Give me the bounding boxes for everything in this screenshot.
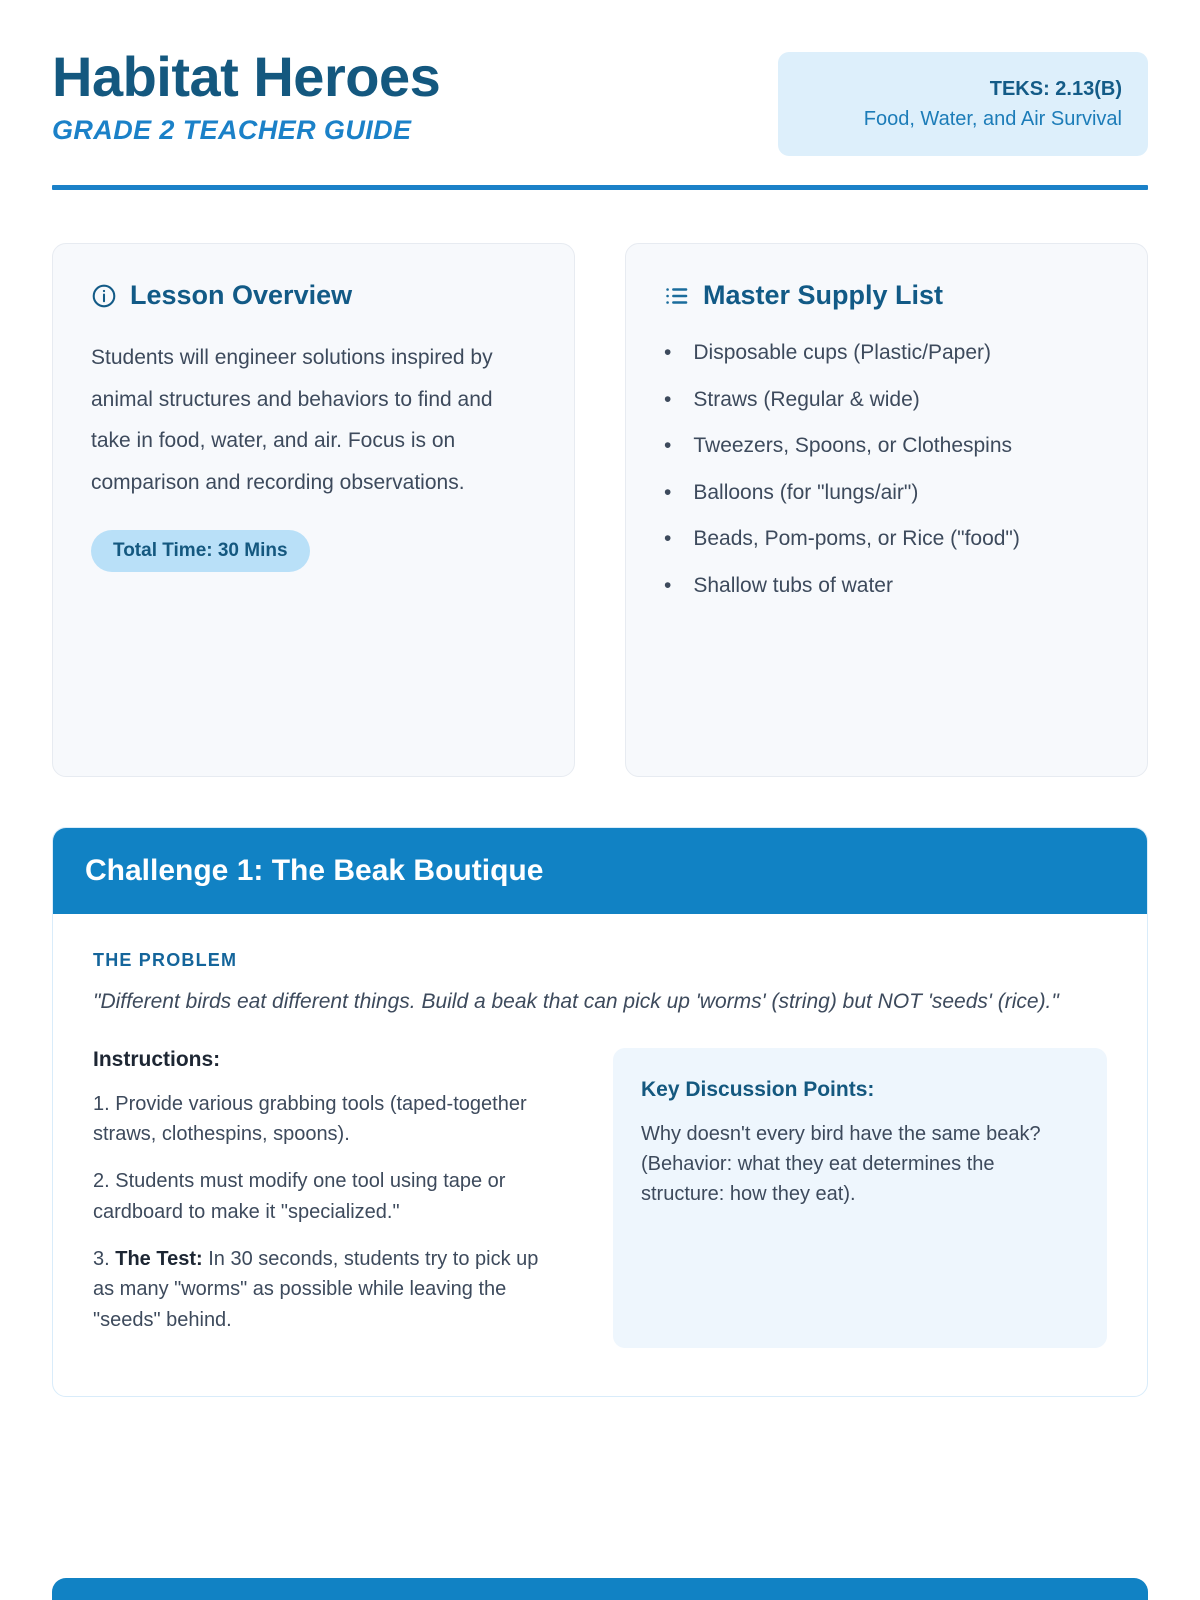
lesson-overview-body: Students will engineer solutions inspire… — [91, 337, 536, 503]
instruction-step: 3. The Test: In 30 seconds, students try… — [93, 1244, 563, 1335]
challenge-1-banner: Challenge 1: The Beak Boutique — [53, 828, 1147, 914]
lesson-overview-header: Lesson Overview — [91, 280, 536, 311]
supply-item-label: Disposable cups (Plastic/Paper) — [693, 341, 991, 364]
list-item: •Beads, Pom-poms, or Rice ("food") — [664, 523, 1109, 556]
teks-badge: TEKS: 2.13(B) Food, Water, and Air Survi… — [778, 52, 1148, 156]
step-number: 3. — [93, 1248, 110, 1270]
teacher-guide-page: Habitat Heroes GRADE 2 TEACHER GUIDE TEK… — [0, 0, 1200, 1600]
supply-item-label: Straws (Regular & wide) — [693, 388, 919, 411]
supply-item-label: Balloons (for "lungs/air") — [693, 481, 918, 504]
step-text: Provide various grabbing tools (taped-to… — [93, 1093, 527, 1145]
page-subtitle: GRADE 2 TEACHER GUIDE — [52, 115, 440, 146]
supply-list-title: Master Supply List — [703, 280, 943, 311]
instructions-column: Instructions: 1. Provide various grabbin… — [93, 1048, 563, 1353]
header-divider — [52, 185, 1148, 190]
discussion-title: Key Discussion Points: — [641, 1078, 1079, 1102]
list-item: •Straws (Regular & wide) — [664, 384, 1109, 417]
page-title: Habitat Heroes — [52, 48, 440, 107]
page-header: Habitat Heroes GRADE 2 TEACHER GUIDE TEK… — [52, 0, 1148, 156]
master-supply-list-card: Master Supply List •Disposable cups (Pla… — [625, 243, 1148, 777]
challenge-2-banner-partial — [52, 1578, 1148, 1600]
summary-cards-row: Lesson Overview Students will engineer s… — [52, 243, 1148, 777]
bullet-icon: • — [664, 434, 671, 457]
bullet-icon: • — [664, 481, 671, 504]
total-time-badge: Total Time: 30 Mins — [91, 530, 310, 572]
list-item: •Disposable cups (Plastic/Paper) — [664, 337, 1109, 370]
supply-item-label: Beads, Pom-poms, or Rice ("food") — [693, 527, 1020, 550]
list-item: •Tweezers, Spoons, or Clothespins — [664, 430, 1109, 463]
step-text: Students must modify one tool using tape… — [93, 1170, 505, 1222]
challenge-1-card: Challenge 1: The Beak Boutique THE PROBL… — [52, 827, 1148, 1397]
step-number: 1. — [93, 1093, 110, 1115]
key-discussion-points-box: Key Discussion Points: Why doesn't every… — [613, 1048, 1107, 1348]
teks-code: TEKS: 2.13(B) — [804, 74, 1122, 104]
supply-item-label: Tweezers, Spoons, or Clothespins — [693, 434, 1012, 457]
list-item: •Shallow tubs of water — [664, 570, 1109, 603]
discussion-text: Why doesn't every bird have the same bea… — [641, 1119, 1079, 1210]
bullet-icon: • — [664, 527, 671, 550]
list-ul-icon — [664, 283, 690, 309]
instruction-step: 2. Students must modify one tool using t… — [93, 1166, 563, 1227]
challenge-1-body: THE PROBLEM "Different birds eat differe… — [53, 914, 1147, 1396]
bullet-icon: • — [664, 341, 671, 364]
list-item: •Balloons (for "lungs/air") — [664, 477, 1109, 510]
lesson-overview-card: Lesson Overview Students will engineer s… — [52, 243, 575, 777]
step-number: 2. — [93, 1170, 110, 1192]
bullet-icon: • — [664, 574, 671, 597]
supply-list: •Disposable cups (Plastic/Paper) •Straws… — [664, 337, 1109, 602]
title-block: Habitat Heroes GRADE 2 TEACHER GUIDE — [52, 44, 440, 146]
discussion-column: Key Discussion Points: Why doesn't every… — [613, 1048, 1107, 1348]
supply-item-label: Shallow tubs of water — [693, 574, 893, 597]
lesson-overview-title: Lesson Overview — [130, 280, 352, 311]
step-bold: The Test: — [115, 1248, 202, 1270]
problem-text: "Different birds eat different things. B… — [93, 986, 1107, 1018]
instructions-label: Instructions: — [93, 1048, 563, 1072]
challenge-columns: Instructions: 1. Provide various grabbin… — [93, 1048, 1107, 1353]
supply-list-header: Master Supply List — [664, 280, 1109, 311]
instruction-step: 1. Provide various grabbing tools (taped… — [93, 1089, 563, 1150]
teks-description: Food, Water, and Air Survival — [804, 104, 1122, 134]
info-circle-icon — [91, 283, 117, 309]
problem-label: THE PROBLEM — [93, 950, 1107, 971]
bullet-icon: • — [664, 388, 671, 411]
